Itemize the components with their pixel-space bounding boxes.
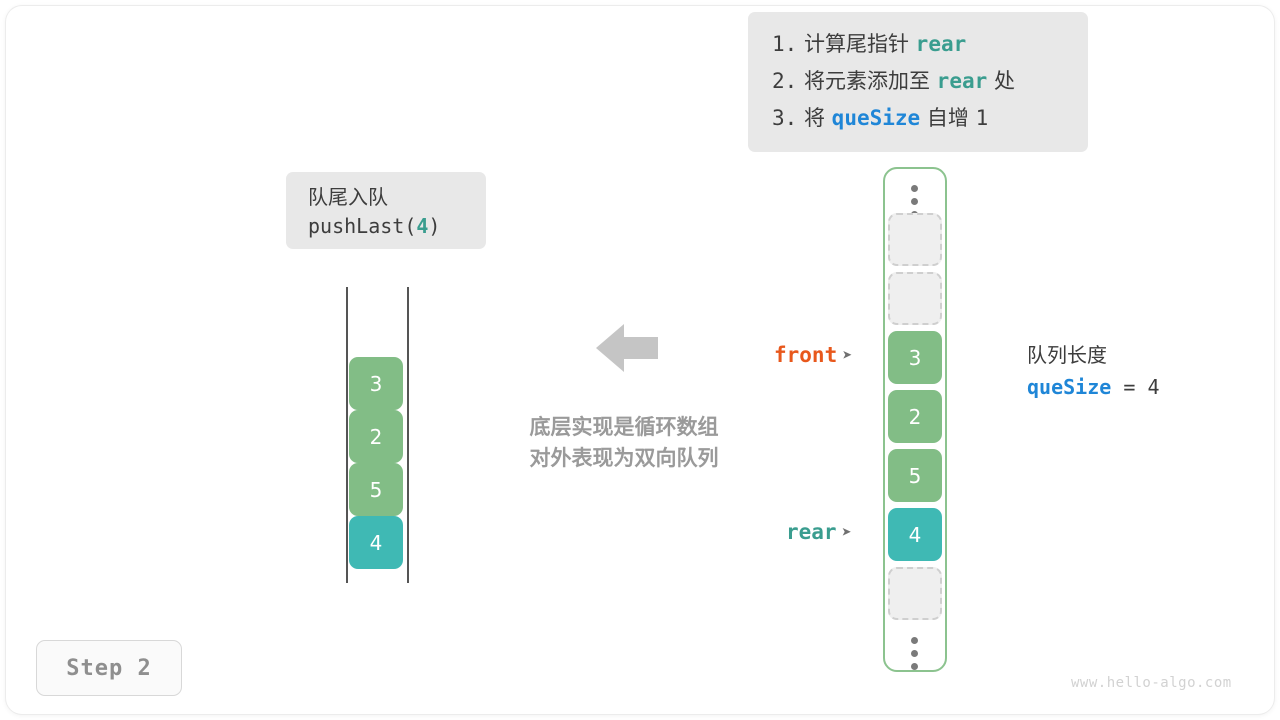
queue-size-value: 4 xyxy=(1147,375,1159,399)
step-3-value: 1 xyxy=(976,106,989,130)
caption-line-2: 对外表现为双向队列 xyxy=(498,443,750,474)
left-arrow-icon xyxy=(596,322,658,374)
front-pointer-arrow-icon: ➤ xyxy=(842,346,852,366)
steps-panel: 1. 计算尾指针 rear 2. 将元素添加至 rear 处 3. 将 queS… xyxy=(748,12,1088,152)
step-line-1: 1. 计算尾指针 rear xyxy=(772,26,1064,63)
push-panel-call: pushLast(4) xyxy=(308,211,464,241)
deque-rail-right xyxy=(407,287,409,583)
push-panel-title: 队尾入队 xyxy=(308,183,464,211)
push-operation-panel: 队尾入队 pushLast(4) xyxy=(286,172,486,249)
deque-cell: 3 xyxy=(349,357,403,410)
rear-pointer-text: rear xyxy=(786,520,837,544)
queue-size-equals: = xyxy=(1123,375,1135,399)
array-cell: 5 xyxy=(888,449,942,502)
push-call-arg: 4 xyxy=(416,214,428,238)
step-badge: Step 2 xyxy=(36,640,182,696)
queue-size-readout: 队列长度 queSize = 4 xyxy=(1027,340,1159,404)
circular-array-container: 3 2 5 4 xyxy=(883,167,947,672)
deque-cell: 2 xyxy=(349,410,403,463)
step-2-number: 2. xyxy=(772,69,797,93)
step-2-code: rear xyxy=(937,69,988,93)
ellipsis-bottom-icon xyxy=(911,637,919,670)
step-1-text: 计算尾指针 xyxy=(804,32,909,56)
deque-rail-left xyxy=(346,287,348,583)
array-cell: 2 xyxy=(888,390,942,443)
step-line-3: 3. 将 queSize 自增 1 xyxy=(772,100,1064,137)
rear-pointer-label: rear➤ xyxy=(786,520,852,544)
rear-pointer-arrow-icon: ➤ xyxy=(842,523,852,543)
step-1-code: rear xyxy=(916,32,967,56)
array-cell-empty xyxy=(888,567,942,620)
watermark: www.hello-algo.com xyxy=(1071,675,1232,691)
step-3-text-tail: 自增 xyxy=(927,106,969,130)
step-3-text: 将 xyxy=(804,106,825,130)
deque-abstract-view: 3 2 5 4 xyxy=(340,280,420,590)
deque-cell-highlight: 4 xyxy=(349,516,403,569)
caption-line-1: 底层实现是循环数组 xyxy=(498,412,750,443)
step-2-text: 将元素添加至 xyxy=(804,69,930,93)
step-1-number: 1. xyxy=(772,32,797,56)
implementation-caption: 底层实现是循环数组 对外表现为双向队列 xyxy=(498,412,750,474)
deque-cell: 5 xyxy=(349,463,403,516)
queue-size-label: 队列长度 xyxy=(1027,340,1159,370)
array-cell: 3 xyxy=(888,331,942,384)
queue-size-var: queSize xyxy=(1027,375,1111,399)
diagram-canvas: 1. 计算尾指针 rear 2. 将元素添加至 rear 处 3. 将 queS… xyxy=(0,0,1280,720)
step-2-text-tail: 处 xyxy=(994,69,1015,93)
array-cell-empty xyxy=(888,272,942,325)
front-pointer-label: front➤ xyxy=(774,343,852,367)
step-line-2: 2. 将元素添加至 rear 处 xyxy=(772,63,1064,100)
step-3-number: 3. xyxy=(772,106,797,130)
queue-size-expression: queSize = 4 xyxy=(1027,370,1159,404)
array-cell-highlight: 4 xyxy=(888,508,942,561)
front-pointer-text: front xyxy=(774,343,837,367)
step-3-code: queSize xyxy=(832,106,921,130)
push-call-close: ) xyxy=(428,214,440,238)
array-cell-empty xyxy=(888,213,942,266)
push-call-name: pushLast( xyxy=(308,214,416,238)
